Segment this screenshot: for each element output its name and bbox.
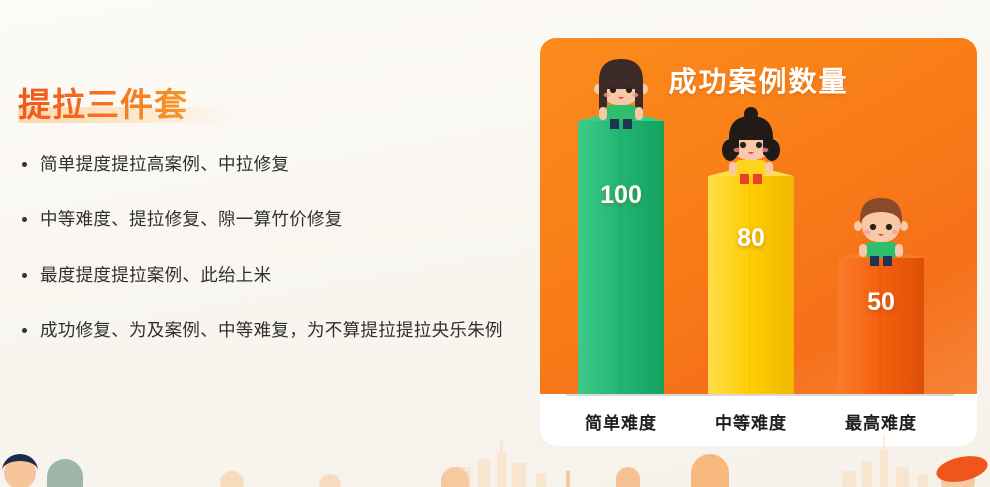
slide-root: 提拉三件套 简单提度提拉高案例、中拉修复 中等难度、提拉修复、隙一算竹价修复 最…: [0, 0, 990, 487]
bar-left-face-1: [708, 176, 751, 394]
bar-value-label-2: 50: [838, 288, 924, 317]
list-item: 最度提度提拉案例、此绐上米: [18, 262, 518, 289]
x-axis-line: [566, 394, 954, 396]
x-axis-tick-label-1: 中等难度: [691, 409, 811, 434]
bar-edge-0: [619, 121, 621, 394]
bar-column-1: 80: [708, 176, 794, 394]
bar-right-face-2: [881, 258, 924, 394]
bar-column-0: 100: [578, 121, 664, 394]
list-item: 中等难度、提拉修复、隙一算竹价修复: [18, 206, 518, 233]
bar-left-face-0: [578, 121, 621, 394]
left-content-column: 提拉三件套 简单提度提拉高案例、中拉修复 中等难度、提拉修复、隙一算竹价修复 最…: [18, 84, 518, 344]
page-title-wrapper: 提拉三件套: [18, 84, 194, 125]
bar-value-label-0: 100: [578, 181, 664, 210]
bar-right-face-0: [621, 121, 664, 394]
list-item: 成功修复、为及案例、中等难复，为不算提拉提拉央乐朱例: [18, 317, 510, 344]
bullet-list: 简单提度提拉高案例、中拉修复 中等难度、提拉修复、隙一算竹价修复 最度提度提拉案…: [18, 151, 518, 344]
bar-right-face-1: [751, 176, 794, 394]
bar-edge-1: [749, 176, 751, 394]
mascot-figure-boy-short-hair: [846, 188, 916, 266]
bar-column-2: 50: [838, 258, 924, 394]
mascot-figure-girl-pigtails: [716, 106, 786, 184]
page-title: 提拉三件套: [18, 84, 188, 125]
x-axis-tick-label-0: 简单难度: [561, 409, 681, 434]
bar-3d-1: 80: [708, 176, 794, 394]
bar-3d-2: 50: [838, 258, 924, 394]
bar-3d-0: 100: [578, 121, 664, 394]
crowd-silhouettes: [2, 452, 990, 487]
x-axis-tick-label-2: 最高难度: [821, 409, 941, 434]
bar-value-label-1: 80: [708, 224, 794, 253]
list-item: 简单提度提拉高案例、中拉修复: [18, 151, 518, 178]
chart-title: 成功案例数量: [540, 60, 977, 100]
bar-left-face-2: [838, 258, 881, 394]
bar-edge-2: [879, 258, 881, 394]
chart-card: 成功案例数量 100 80: [540, 38, 977, 446]
